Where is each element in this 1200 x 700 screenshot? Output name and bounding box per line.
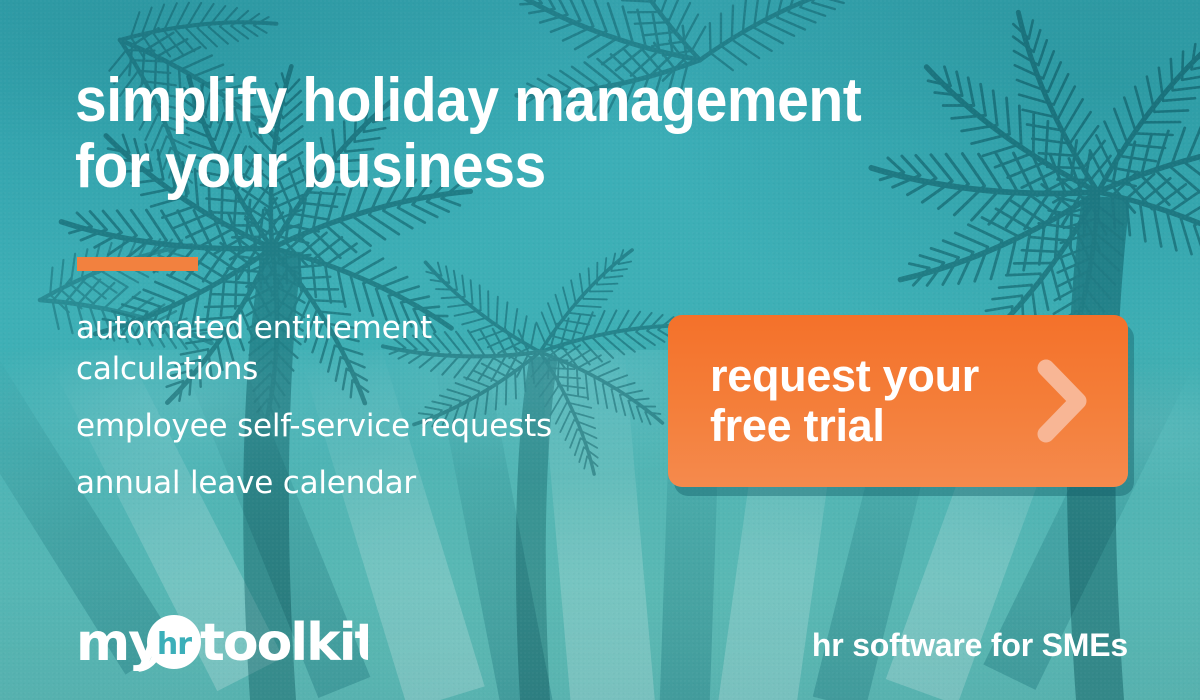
promo-banner: simplify holiday management for your bus… xyxy=(0,0,1200,700)
tagline: hr software for SMEs xyxy=(812,627,1128,664)
cta-label: request your free trial xyxy=(668,351,979,452)
headline: simplify holiday management for your bus… xyxy=(75,68,903,199)
request-free-trial-button[interactable]: request your free trial xyxy=(668,315,1128,487)
list-item: automated entitlement calculations xyxy=(76,308,616,390)
banner-content: simplify holiday management for your bus… xyxy=(0,0,1200,700)
accent-divider xyxy=(77,257,198,271)
list-item: employee self-service requests xyxy=(76,406,616,447)
myhrtoolkit-logo: my hr toolkit xyxy=(76,614,368,672)
svg-text:hr: hr xyxy=(157,627,192,662)
chevron-right-icon xyxy=(1032,358,1128,444)
list-item: annual leave calendar xyxy=(76,463,616,504)
feature-list: automated entitlement calculations emplo… xyxy=(76,308,616,504)
svg-text:toolkit: toolkit xyxy=(200,614,368,672)
